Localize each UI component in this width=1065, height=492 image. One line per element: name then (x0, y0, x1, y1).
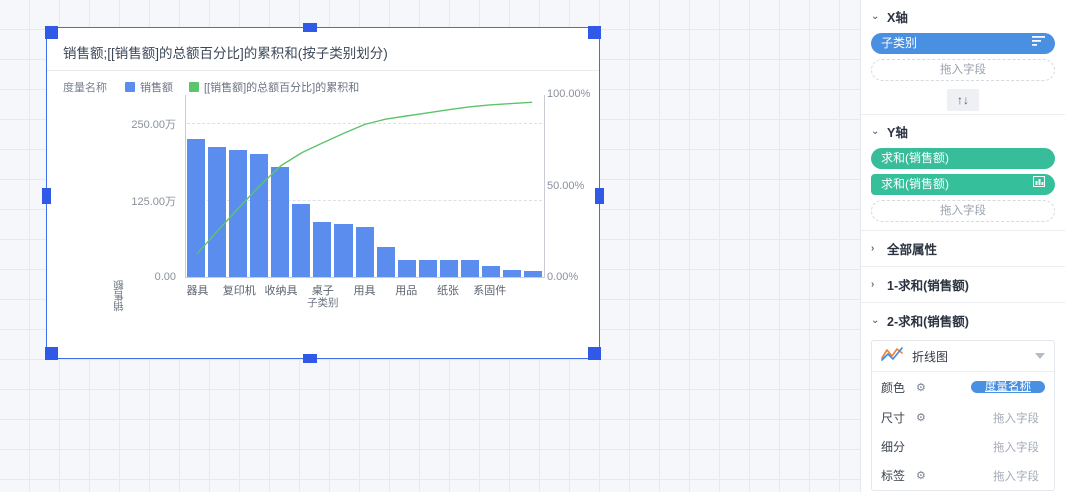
plot-canvas (187, 98, 542, 278)
field-pill-label: 子类别 (881, 33, 917, 54)
chart-container[interactable]: 销售额;[[销售额]的总额百分比]的累积和(按子类别划分) 度量名称 销售额 [… (47, 28, 599, 358)
y-axis-tick: 250.00万 (102, 116, 176, 132)
line-chart-icon (881, 347, 903, 365)
gear-icon[interactable]: ⚙ (916, 469, 926, 482)
chart-icon-svg (1033, 176, 1045, 187)
x-axis-tick-label: 收纳具 (264, 282, 297, 298)
marks-row-label: 细分 (881, 438, 911, 455)
marks-row-label[interactable]: 标签 ⚙ 拖入字段 (872, 461, 1054, 490)
legend-item-sales[interactable]: 销售额 (125, 79, 173, 95)
y2-axis-tick: 50.00% (547, 180, 599, 192)
line-chart-icon-svg (881, 347, 903, 362)
chart-selection-frame[interactable]: 销售额;[[销售额]的总额百分比]的累积和(按子类别划分) 度量名称 销售额 [… (46, 27, 600, 359)
section-title: 2-求和(销售额) (887, 311, 969, 330)
marks-row-size[interactable]: 尺寸 ⚙ 拖入字段 (872, 403, 1054, 432)
resize-handle-middle-right[interactable] (595, 188, 604, 204)
chart-title: 销售额;[[销售额]的总额百分比]的累积和(按子类别划分) (47, 37, 599, 71)
axis-swap-bar: ↑↓ (861, 89, 1065, 115)
resize-handle-bottom-center[interactable] (303, 354, 317, 363)
swap-axes-button[interactable]: ↑↓ (947, 89, 979, 111)
x-axis-dropzone[interactable]: 拖入字段 (871, 59, 1055, 81)
marks-row-dropzone[interactable]: 拖入字段 (993, 410, 1045, 426)
y2-axis-tick: 0.00% (547, 271, 599, 283)
field-pill-sum-sales-1[interactable]: 求和(销售额) (871, 148, 1055, 169)
mark-type-label: 折线图 (912, 348, 1026, 365)
legend-swatch-line (189, 82, 199, 92)
x-axis-tick-label: 器具 (186, 282, 208, 298)
y-axis-section-header[interactable]: ⌄ Y轴 (861, 115, 1065, 148)
legend-swatch-bar (125, 82, 135, 92)
x-axis-tick-label: 用具 (354, 282, 376, 298)
resize-handle-top-left[interactable] (45, 26, 58, 39)
field-pill-subcategory[interactable]: 子类别 (871, 33, 1055, 54)
sort-icon[interactable] (1032, 33, 1045, 54)
x-axis-tick-label: 桌子 (312, 282, 334, 298)
gear-icon[interactable]: ⚙ (916, 411, 926, 424)
sort-icon-svg (1032, 36, 1045, 46)
x-axis-shelf[interactable]: 子类别 拖入字段 (861, 33, 1065, 89)
resize-handle-top-right[interactable] (588, 26, 601, 39)
field-pill-label: 求和(销售额) (881, 148, 949, 169)
marks-row-label: 尺寸 (881, 409, 911, 426)
marks-card[interactable]: 折线图 颜色 ⚙ 度量名称 尺寸 ⚙ 拖入字段 细分 拖入字段 标签 ⚙ 拖入字… (871, 340, 1055, 491)
section-title: 全部属性 (887, 239, 937, 258)
plot-area: 销售额 [[销售额]的总额百分比]的累积和 子类别 0.00125.00万250… (47, 95, 599, 345)
resize-handle-bottom-right[interactable] (588, 347, 601, 360)
section-measure-2[interactable]: ⌄ 2-求和(销售额) (861, 302, 1065, 338)
mark-type-selector[interactable]: 折线图 (872, 341, 1054, 372)
y2-axis-tick: 100.00% (547, 88, 599, 100)
x-axis-tick-label: 纸张 (437, 282, 459, 298)
field-pill-label: 求和(销售额) (881, 174, 949, 195)
chevron-down-icon: ⌄ (871, 315, 880, 326)
y-axis-tick: 125.00万 (102, 193, 176, 209)
y2-axis-line (544, 95, 545, 278)
y-axis-title: 销售额 (111, 280, 126, 312)
marks-row-label: 标签 (881, 467, 911, 484)
section-all-properties[interactable]: › 全部属性 (861, 230, 1065, 266)
chevron-right-icon: › (871, 243, 880, 254)
marks-row-dropzone[interactable]: 拖入字段 (993, 439, 1045, 455)
x-axis-tick-label: 系固件 (473, 282, 506, 298)
chevron-down-icon: ⌄ (871, 11, 881, 22)
y-axis-tick: 0.00 (102, 271, 176, 283)
marks-row-detail[interactable]: 细分 拖入字段 (872, 432, 1054, 461)
gear-icon[interactable]: ⚙ (916, 381, 926, 394)
chart-icon[interactable] (1033, 174, 1045, 195)
chevron-right-icon: › (871, 279, 880, 290)
legend-item-cumulative[interactable]: [[销售额]的总额百分比]的累积和 (189, 79, 359, 95)
chevron-down-icon[interactable] (1035, 353, 1045, 359)
chevron-down-icon: ⌄ (871, 126, 881, 137)
y-axis-line (185, 95, 186, 278)
marks-row-value[interactable]: 度量名称 (971, 378, 1045, 397)
section-title: 1-求和(销售额) (887, 275, 969, 294)
field-pill-measure-names[interactable]: 度量名称 (971, 381, 1045, 393)
x-axis-tick-label: 用品 (395, 282, 417, 298)
resize-handle-bottom-left[interactable] (45, 347, 58, 360)
cumulative-line-series (187, 95, 542, 278)
resize-handle-top-center[interactable] (303, 23, 317, 32)
cumulative-line (197, 102, 531, 253)
field-pill-sum-sales-2[interactable]: 求和(销售额) (871, 174, 1055, 195)
config-panel[interactable]: ⌄ X轴 子类别 拖入字段 ↑↓ ⌄ Y轴 求和(销售额) 求和(销售额 (860, 0, 1065, 492)
y-axis-dropzone[interactable]: 拖入字段 (871, 200, 1055, 222)
resize-handle-middle-left[interactable] (42, 188, 51, 204)
chart-legend: 度量名称 销售额 [[销售额]的总额百分比]的累积和 (47, 71, 599, 95)
legend-label-bar: 销售额 (140, 79, 173, 95)
legend-label-line: [[销售额]的总额百分比]的累积和 (204, 79, 359, 95)
marks-row-label: 颜色 (881, 379, 911, 396)
x-axis-section-title: X轴 (887, 7, 908, 26)
legend-title: 度量名称 (63, 79, 107, 95)
marks-row-color[interactable]: 颜色 ⚙ 度量名称 (872, 372, 1054, 403)
marks-row-dropzone[interactable]: 拖入字段 (993, 468, 1045, 484)
y-axis-section-title: Y轴 (887, 122, 908, 141)
section-measure-1[interactable]: › 1-求和(销售额) (861, 266, 1065, 302)
x-axis-tick-label: 复印机 (223, 282, 256, 298)
x-axis-section-header[interactable]: ⌄ X轴 (861, 0, 1065, 33)
y-axis-shelf[interactable]: 求和(销售额) 求和(销售额) 拖入字段 (861, 148, 1065, 230)
